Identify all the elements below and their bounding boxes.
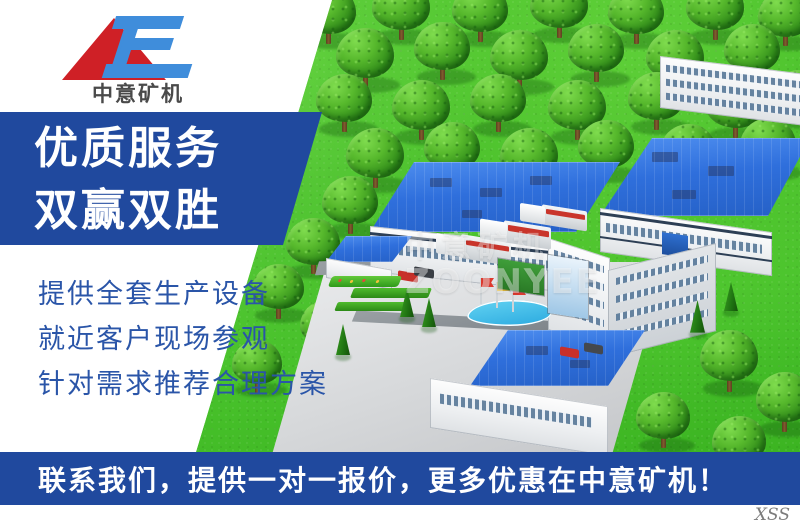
selling-point-3: 针对需求推荐合理方案 <box>38 362 328 407</box>
blue-roof <box>326 236 412 262</box>
office-building-top-right <box>660 56 800 122</box>
tree <box>568 24 624 86</box>
poster-canvas: 中意矿机 ZOONYEE 中意矿机 优质服务 双赢双胜 提供全套生产设备 就近客… <box>0 0 800 530</box>
tree <box>712 416 766 452</box>
selling-points-list: 提供全套生产设备 就近客户现场参观 针对需求推荐合理方案 <box>38 272 328 407</box>
conifer-tree <box>400 288 414 322</box>
company-name-text: 中意矿机 <box>68 78 208 108</box>
flower-bed <box>328 276 402 287</box>
call-to-action-banner[interactable]: 联系我们，提供一对一报价，更多优惠在中意矿机！ <box>0 452 800 505</box>
headline-line-2: 双赢双胜 <box>34 180 222 242</box>
image-credit-text: XSS <box>755 505 790 525</box>
tree <box>316 74 372 136</box>
hedge <box>334 302 408 311</box>
company-logo: 中意矿机 <box>52 8 212 108</box>
headline-block: 优质服务 双赢双胜 <box>34 118 222 242</box>
call-to-action-text: 联系我们，提供一对一报价，更多优惠在中意矿机！ <box>38 459 728 499</box>
low-building-foreground <box>430 330 650 440</box>
billboard-product <box>548 255 588 319</box>
selling-point-2: 就近客户现场参观 <box>38 317 328 362</box>
blue-roof <box>600 138 800 216</box>
blue-e-bar-middle-shape <box>120 38 174 50</box>
selling-point-1: 提供全套生产设备 <box>38 272 328 317</box>
office-wall <box>660 56 800 126</box>
conifer-tree <box>724 282 738 316</box>
tree <box>414 22 470 84</box>
triangle-e-logo-icon <box>52 8 212 80</box>
blue-roof <box>470 330 645 386</box>
conifer-tree <box>422 298 436 332</box>
factory-hall-right <box>600 108 800 258</box>
conifer-tree <box>336 324 350 360</box>
conifer-tree <box>690 300 705 338</box>
hedge <box>350 288 432 298</box>
headline-line-1: 优质服务 <box>34 118 222 180</box>
blue-e-bar-top-shape <box>112 16 184 29</box>
blue-e-bar-bottom-shape <box>102 64 193 78</box>
